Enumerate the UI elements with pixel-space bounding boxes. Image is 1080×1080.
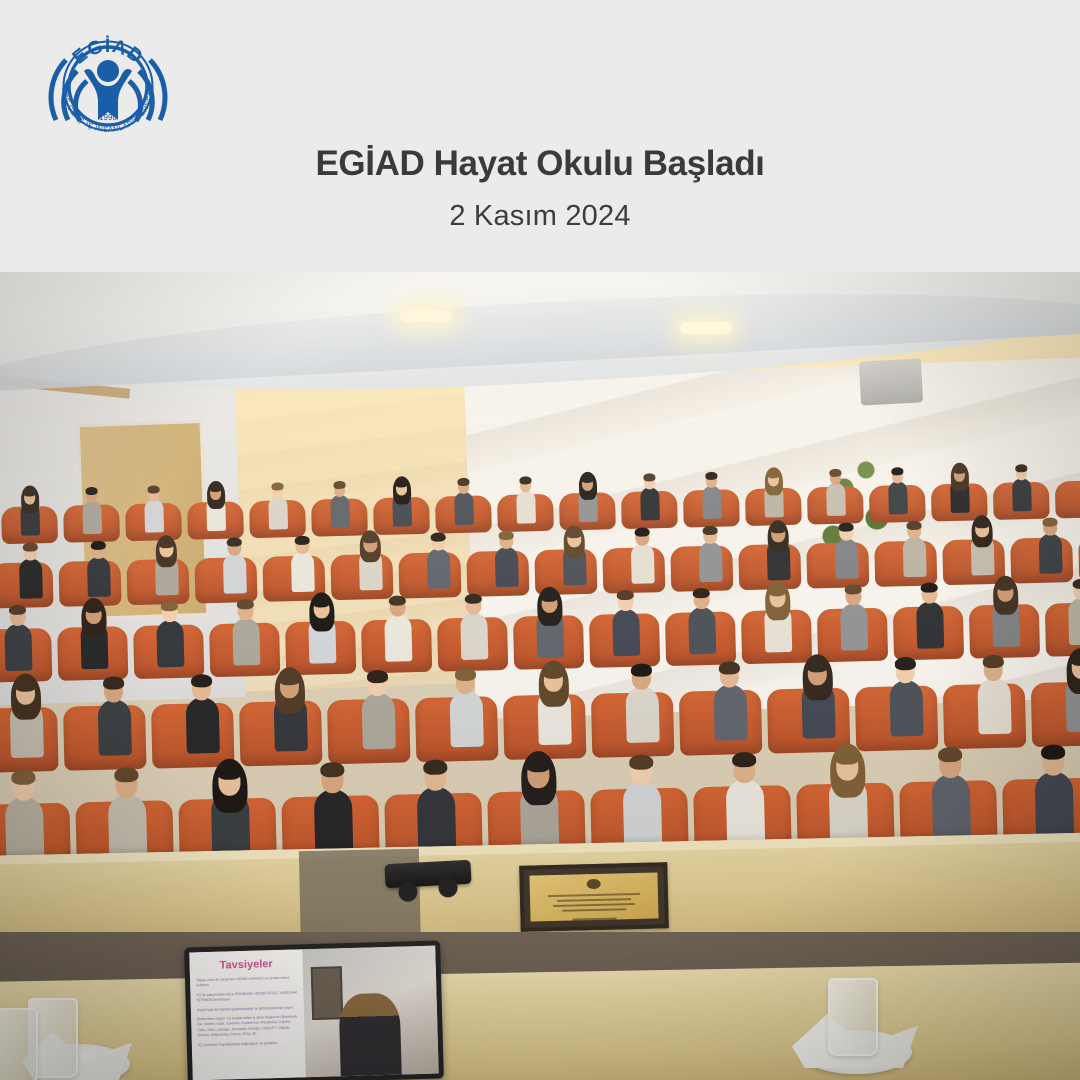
framed-plaque	[519, 862, 669, 932]
event-date: 2 Kasım 2024	[0, 200, 1080, 233]
audience-member-hair	[423, 759, 448, 775]
audience-member-hair	[770, 524, 785, 533]
audience-member-hair	[731, 752, 756, 768]
audience-member	[3, 480, 56, 538]
audience-member	[251, 474, 304, 532]
audience-member	[338, 655, 418, 753]
audience-member-hair	[114, 767, 139, 783]
audience-member	[816, 512, 876, 581]
audience-member	[685, 463, 738, 521]
audience-member-hair	[895, 657, 916, 670]
foreground-desk	[0, 962, 1080, 1080]
audience-member	[747, 462, 800, 520]
audience-member	[690, 647, 770, 745]
audience-member	[896, 570, 964, 652]
slide-bullet: Birbirinden özgün YZ araçlarından iş akı…	[197, 1014, 299, 1038]
audience-member-hair	[983, 655, 1004, 668]
audience-member-hair	[227, 537, 242, 546]
audience-member	[995, 456, 1048, 514]
audience-member	[561, 466, 614, 524]
audience-member	[668, 575, 736, 657]
audience-member	[744, 573, 812, 655]
audience-member-hair	[1072, 578, 1080, 589]
audience-member	[65, 478, 118, 536]
audience-member-hair	[838, 522, 853, 531]
audience-member-body	[454, 492, 474, 526]
audience-member	[933, 457, 986, 515]
plaque-plate	[529, 872, 658, 921]
audience-member	[884, 510, 944, 579]
audience-member	[288, 585, 356, 667]
audience-member-hair	[320, 762, 345, 778]
audience-member	[954, 640, 1034, 738]
audience-member	[409, 522, 469, 591]
page-title: EGİAD Hayat Okulu Başladı	[0, 144, 1080, 184]
audience-member-hair	[295, 536, 310, 545]
audience-member	[592, 577, 660, 659]
audience-member	[1, 532, 61, 601]
audience-member	[375, 471, 428, 529]
audience-member-body	[826, 483, 846, 517]
audience-member-body	[98, 699, 132, 756]
laptop-screen: Tavsiyeler Yapay zeka ile çalışırken KEN…	[189, 946, 438, 1080]
audience-member	[866, 642, 946, 740]
audience-member	[127, 477, 180, 535]
slide-bullet: Yapay zeka ile çalışırken KENDİ verileri…	[196, 975, 297, 989]
audience-member-hair	[921, 582, 939, 593]
audience-member-hair	[103, 676, 124, 689]
audience-member-hair	[1071, 653, 1080, 666]
audience-member-hair	[617, 590, 635, 601]
audience-member	[250, 657, 330, 755]
logo-year: 1990	[99, 113, 117, 122]
audience-member	[273, 525, 333, 594]
audience-member	[341, 524, 401, 593]
audience-member-hair	[85, 603, 103, 614]
audience-member-hair	[455, 668, 476, 681]
audience-member-hair	[631, 663, 652, 676]
audience-member-hair	[431, 532, 446, 541]
slide-bullet: YZ çıktılarını kaynaklardan doğrulayın v…	[198, 1040, 299, 1048]
audience-member-hair	[11, 769, 36, 785]
audience-member	[364, 583, 432, 665]
audience-member-hair	[937, 747, 962, 763]
audience-member	[1020, 507, 1080, 576]
auditorium-group-photo: Tavsiyeler Yapay zeka ile çalışırken KEN…	[0, 272, 1080, 1080]
audience-member	[1042, 638, 1080, 736]
audience-member-hair	[997, 580, 1015, 591]
audience-member-hair	[702, 526, 717, 535]
audience-member-body	[889, 680, 923, 737]
audience-member-hair	[237, 599, 255, 610]
audience-member-body	[186, 697, 220, 754]
audience-member-hair	[974, 519, 989, 528]
audience-member	[594, 737, 690, 854]
audience-member-hair	[389, 595, 407, 606]
audience-member	[137, 528, 197, 597]
audience-member-body	[702, 486, 722, 520]
audience-member	[60, 590, 128, 672]
water-glass	[0, 1008, 38, 1080]
audience-member	[205, 527, 265, 596]
slide-bullet: YZ ile çalışmadan önce PROBLEM, HEDEF Kİ…	[196, 990, 297, 1004]
audience-member-hair	[91, 541, 106, 550]
water-glass	[828, 978, 878, 1056]
audience-member-body	[361, 693, 395, 750]
audience-member	[313, 472, 366, 530]
audience-member	[749, 514, 809, 583]
audience-member	[74, 662, 154, 760]
audience-member-body	[977, 678, 1011, 735]
audience-member-body	[1012, 478, 1032, 512]
audience-member	[952, 509, 1012, 578]
audience-member	[778, 644, 858, 742]
audience-member-hair	[279, 672, 300, 685]
audience-member	[820, 572, 888, 654]
audience-member	[871, 459, 924, 517]
audience-member	[514, 651, 594, 749]
ceiling-spotlight	[400, 310, 452, 322]
audience-member-hair	[367, 670, 388, 683]
audience-member	[69, 530, 129, 599]
audience-member-hair	[313, 597, 331, 608]
audience-member-hair	[567, 529, 582, 538]
audience-member-hair	[541, 591, 559, 602]
audience-member	[623, 465, 676, 523]
audience-member	[972, 568, 1040, 650]
audience-member	[545, 519, 605, 588]
audience-member-hair	[526, 757, 551, 773]
audience-member-body	[330, 495, 350, 529]
audience-member	[182, 747, 278, 864]
audience-member	[477, 520, 537, 589]
audience-member	[1006, 726, 1080, 843]
slide-photo	[302, 946, 438, 1078]
audience-member-hair	[807, 659, 828, 672]
audience-member	[1048, 566, 1080, 648]
audience-member	[602, 649, 682, 747]
wall-picture	[311, 966, 343, 1019]
audience-member-hair	[161, 601, 179, 612]
plaque-seal	[587, 879, 601, 889]
audience-member	[0, 592, 52, 674]
audience-member-hair	[191, 674, 212, 687]
speaker-box	[859, 358, 923, 405]
slide-bullet: Hedef kitle ile KENDİ gözlemlerinizi ve …	[197, 1005, 298, 1013]
audience-member-hair	[543, 666, 564, 679]
audience-member-body	[268, 496, 288, 530]
audience-member-hair	[15, 678, 36, 691]
audience-member	[0, 664, 66, 762]
audience-member-hair	[693, 588, 711, 599]
audience-member-hair	[363, 534, 378, 543]
audience-member-hair	[159, 539, 174, 548]
audience-member-hair	[217, 764, 242, 780]
audience-member-hair	[769, 586, 787, 597]
audience-member	[613, 517, 673, 586]
audience-member	[697, 734, 793, 851]
audience-member	[491, 739, 587, 856]
slide-person	[338, 993, 401, 1077]
audience-member	[136, 588, 204, 670]
audience-member	[499, 468, 552, 526]
audience-member-body	[640, 487, 660, 521]
slide-content: Tavsiyeler Yapay zeka ile çalışırken KEN…	[189, 949, 306, 1080]
audience-member-hair	[9, 604, 27, 615]
audience-member-body	[713, 684, 747, 741]
audience-member	[437, 469, 490, 527]
audience-member	[212, 586, 280, 668]
audience-member	[516, 579, 584, 661]
audience-member	[426, 653, 506, 751]
audience-member-body	[625, 686, 659, 743]
audience-member-hair	[906, 521, 921, 530]
ceiling-spotlight	[680, 322, 732, 334]
audience-member-hair	[834, 749, 859, 765]
audience-member-hair	[719, 661, 740, 674]
audience-member	[0, 752, 72, 869]
audience-member-hair	[635, 527, 650, 536]
audience-member	[681, 515, 741, 584]
audience-member-hair	[1042, 517, 1057, 526]
audience-member	[800, 731, 896, 848]
audience-member-hair	[499, 531, 514, 540]
audience-member-hair	[845, 584, 863, 595]
audience-member	[388, 742, 484, 859]
audience-member	[285, 744, 381, 861]
audience-member-hair	[23, 542, 38, 551]
audience-member	[162, 659, 242, 757]
audience-member-hair	[629, 754, 654, 770]
audience-member	[809, 460, 862, 518]
audience-member-body	[449, 691, 483, 748]
audience-member-body	[888, 481, 908, 515]
audience-member-body	[516, 490, 536, 524]
slide-title: Tavsiyeler	[195, 957, 296, 972]
audience-member	[79, 749, 175, 866]
audience-member-hair	[1040, 744, 1065, 760]
social-media-card: EGİAD EGE GENÇ İŞ İNSANLARI DERNEĞİ 1990…	[0, 0, 1080, 1080]
audience-member-body	[82, 501, 102, 535]
audience-member-hair	[465, 593, 483, 604]
egiad-logo: EGİAD EGE GENÇ İŞ İNSANLARI DERNEĞİ 1990	[48, 24, 168, 142]
audience-member	[440, 581, 508, 663]
audience-member	[903, 729, 999, 846]
audience-member-body	[144, 499, 164, 533]
laptop: Tavsiyeler Yapay zeka ile çalışırken KEN…	[184, 940, 444, 1080]
audience-member	[189, 475, 242, 533]
